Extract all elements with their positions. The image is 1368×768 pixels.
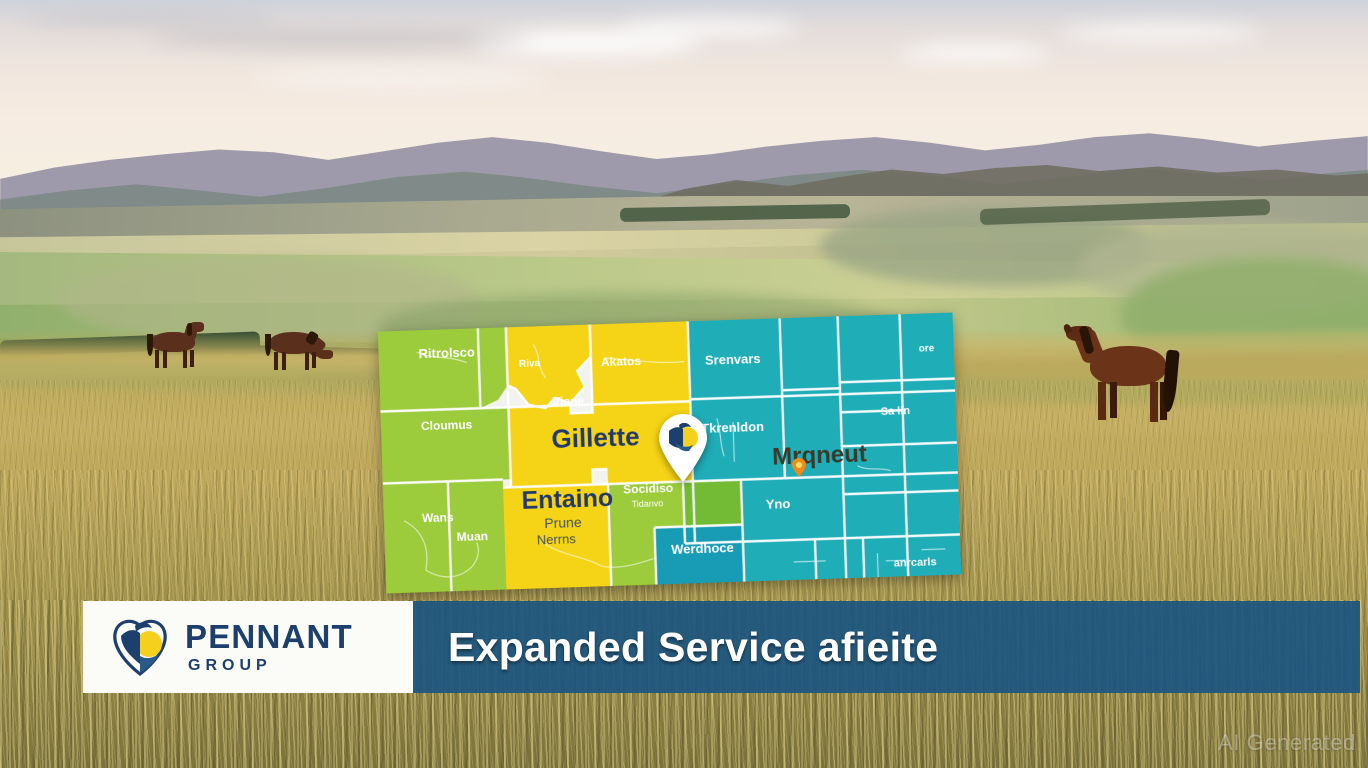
- map-label: Prune: [544, 514, 582, 531]
- cloud-shadowed: [20, 10, 280, 28]
- horse-standing-right: [1060, 324, 1190, 424]
- cloud: [900, 44, 1050, 62]
- map-label: Socidiso: [623, 481, 673, 497]
- map-label: Muan: [456, 529, 488, 544]
- map-label: anrcarls: [894, 556, 937, 569]
- cloud: [620, 18, 800, 38]
- map-label: Werdhoce: [671, 540, 734, 557]
- brand-wordmark: PENNANT GROUP: [185, 620, 353, 674]
- city-marker-icon[interactable]: [790, 458, 808, 478]
- banner-headline: Expanded Service afieite: [448, 601, 938, 693]
- map-label: Srenvars: [705, 351, 761, 368]
- map-label: Sa lin: [881, 405, 911, 418]
- map-label-city: Mrqneut: [772, 440, 868, 470]
- map-label: Wans: [422, 510, 454, 525]
- map-label: Riva: [519, 358, 541, 370]
- ai-generated-watermark: AI Generated: [1218, 730, 1356, 756]
- map-label: Cloumus: [421, 418, 473, 434]
- map-label: Viene: [552, 394, 585, 409]
- map-label: ore: [919, 343, 935, 355]
- cloud-shadowed: [150, 28, 530, 50]
- map-label: Tidanvo: [632, 498, 664, 509]
- map-label-city: Gillette: [551, 421, 640, 454]
- cloud: [1060, 22, 1260, 44]
- screenshot-canvas: Ritrolsco Riva Akatos Srenvars ore Cloum…: [0, 0, 1368, 768]
- map-label: Ritrolsco: [418, 344, 475, 361]
- map-label: Akatos: [601, 354, 642, 369]
- horse-grazing-left: [265, 326, 337, 372]
- map-label: Nerrns: [537, 531, 577, 547]
- brand-logo-panel[interactable]: PENNANT GROUP: [83, 601, 413, 693]
- map-label-city: Entaino: [521, 484, 614, 515]
- brand-subtitle: GROUP: [188, 658, 353, 674]
- brand-name: PENNANT: [185, 620, 353, 653]
- cloud: [250, 70, 550, 86]
- horse-standing-left: [145, 322, 207, 370]
- map-label: Yno: [766, 496, 791, 512]
- map-pin-location-icon[interactable]: [655, 413, 711, 483]
- bottom-banner: PENNANT GROUP Expanded Service afieite: [0, 601, 1368, 693]
- pennant-shield-heart-icon: [109, 616, 171, 678]
